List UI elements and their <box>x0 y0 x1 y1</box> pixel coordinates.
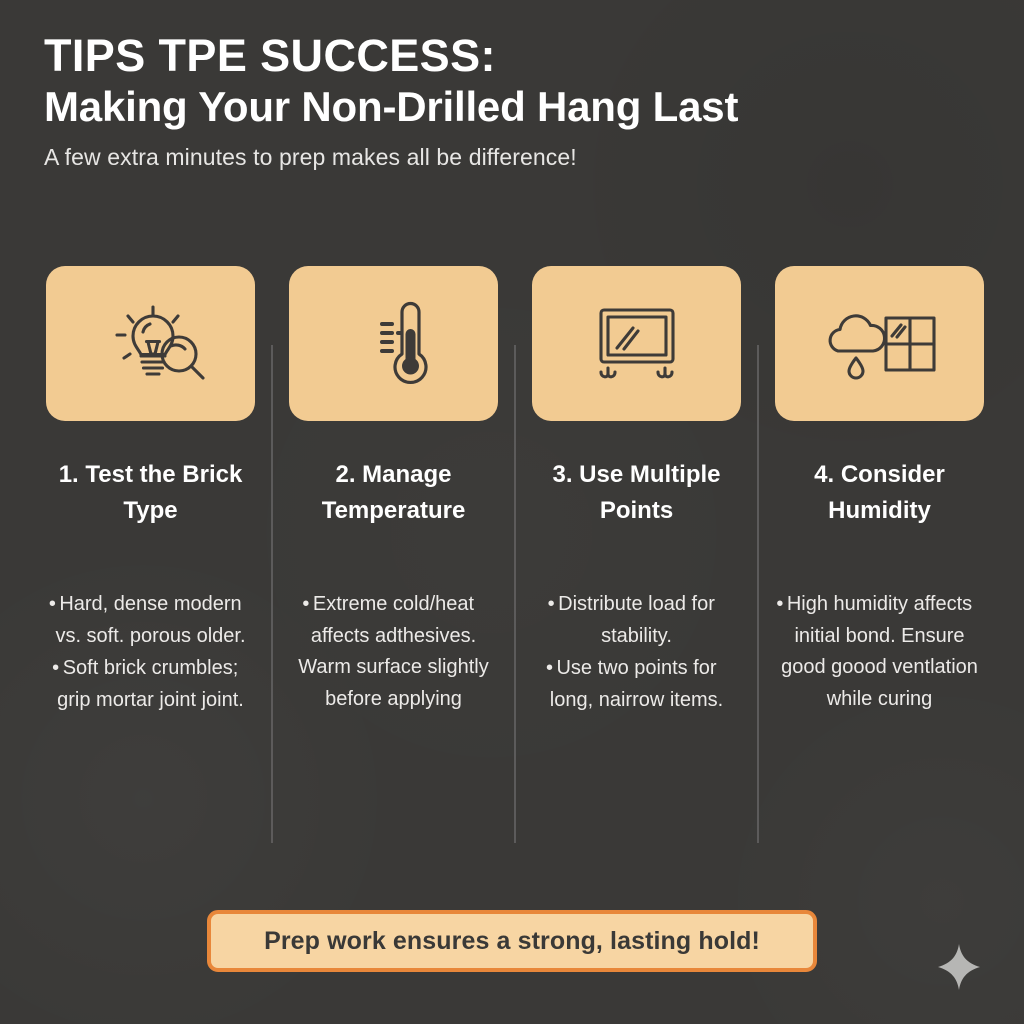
thermometer-icon <box>342 296 446 392</box>
infographic-canvas: TIPS TPE SUCCESS: Making Your Non-Drille… <box>0 0 1024 1024</box>
tip-icon-tile-1 <box>46 266 255 421</box>
bullet-glyph: • <box>299 589 313 621</box>
bullet-text: High humidity affects initial bond. Ensu… <box>781 593 978 710</box>
tip-bullets-2: •Extreme cold/heat affects adthesives. W… <box>288 589 500 716</box>
tip-icon-tile-3 <box>532 266 741 421</box>
bullet-text: Use two points for long, nairrow items. <box>550 657 723 711</box>
bullet-glyph: • <box>45 589 59 621</box>
tip-title-3: 3. Use Multiple Points <box>534 457 739 529</box>
tip-icon-tile-4 <box>775 266 984 421</box>
footer-banner-text: Prep work ensures a strong, lasting hold… <box>264 927 760 956</box>
bullet-glyph: • <box>544 589 558 621</box>
list-item: •Distribute load for stability. <box>531 589 743 652</box>
tip-column-1: 1. Test the Brick Type •Hard, dense mode… <box>46 266 255 717</box>
tip-bullets-1: •Hard, dense modern vs. soft. porous old… <box>45 589 257 717</box>
tip-title-2: 2. Manage Temperature <box>291 457 496 529</box>
list-item: •Extreme cold/heat affects adthesives. W… <box>288 589 500 715</box>
tip-bullets-4: •High humidity affects initial bond. Ens… <box>774 589 986 716</box>
lightbulb-magnifier-icon <box>91 296 211 392</box>
list-item: •Soft brick crumbles; grip mortar joint … <box>45 653 257 716</box>
rain-cloud-window-icon <box>818 296 942 392</box>
tip-title-1: 1. Test the Brick Type <box>48 457 253 529</box>
bullet-text: Extreme cold/heat affects adthesives. Wa… <box>298 593 488 710</box>
column-divider-1 <box>271 345 273 843</box>
sparkle-icon <box>938 944 980 990</box>
tip-column-2: 2. Manage Temperature •Extreme cold/heat… <box>289 266 498 717</box>
list-item: •Hard, dense modern vs. soft. porous old… <box>45 589 257 652</box>
page-subtitle: A few extra minutes to prep makes all be… <box>44 144 974 171</box>
footer-banner: Prep work ensures a strong, lasting hold… <box>207 910 817 972</box>
page-title-line-1: TIPS TPE SUCCESS: <box>44 32 974 79</box>
list-item: •Use two points for long, nairrow items. <box>531 653 743 716</box>
framed-picture-hooks-icon <box>577 296 697 392</box>
column-divider-3 <box>757 345 759 843</box>
list-item: •High humidity affects initial bond. Ens… <box>774 589 986 715</box>
bullet-glyph: • <box>542 653 556 685</box>
bullet-text: Distribute load for stability. <box>558 593 715 647</box>
tip-title-4: 4. Consider Humidity <box>777 457 982 529</box>
tip-bullets-3: •Distribute load for stability. •Use two… <box>531 589 743 717</box>
bullet-text: Soft brick crumbles; grip mortar joint j… <box>57 657 244 711</box>
tip-column-4: 4. Consider Humidity •High humidity affe… <box>775 266 984 717</box>
page-title-line-2: Making Your Non-Drilled Hang Last <box>44 83 974 130</box>
tips-columns: 1. Test the Brick Type •Hard, dense mode… <box>46 266 978 717</box>
column-divider-2 <box>514 345 516 843</box>
bullet-glyph: • <box>773 589 787 621</box>
tip-column-3: 3. Use Multiple Points •Distribute load … <box>532 266 741 717</box>
bullet-glyph: • <box>49 653 63 685</box>
header: TIPS TPE SUCCESS: Making Your Non-Drille… <box>44 32 974 171</box>
tip-icon-tile-2 <box>289 266 498 421</box>
bullet-text: Hard, dense modern vs. soft. porous olde… <box>55 593 245 647</box>
